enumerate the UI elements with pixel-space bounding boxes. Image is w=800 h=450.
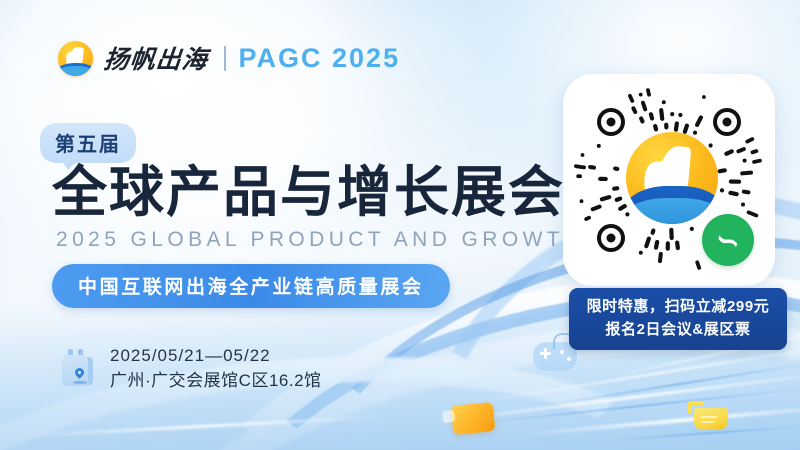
controller-button <box>567 357 571 361</box>
venue-info: 2025/05/21—05/22 广州·广交会展馆C区16.2馆 <box>58 344 322 393</box>
light-streak <box>20 416 380 438</box>
promo-box[interactable]: 限时特惠，扫码立减299元 报名2日会议&展区票 <box>569 288 787 350</box>
brand-divider <box>224 46 226 71</box>
page-title: 全球产品与增长展会 <box>52 164 565 222</box>
tagline-label: 中国互联网出海全产业链高质量展会 <box>78 277 424 298</box>
light-streak <box>471 387 800 425</box>
promo-line-2: 报名2日会议&展区票 <box>577 318 779 341</box>
brand-name-cn: 扬帆出海 <box>102 40 210 76</box>
logo-wave-light <box>626 198 718 224</box>
light-streak <box>542 361 800 407</box>
cart-line <box>701 416 717 418</box>
promo-line-1: 限时特惠，扫码立减299元 <box>577 295 779 318</box>
event-address: 广州·广交会展馆C区16.2馆 <box>110 369 322 394</box>
logo-wave-light <box>58 66 93 76</box>
venue-building-main <box>62 355 88 386</box>
shopping-cart-icon <box>688 398 728 430</box>
map-pin-icon <box>73 366 86 379</box>
cart-line <box>701 421 714 423</box>
cart-body <box>694 408 728 430</box>
venue-text: 2025/05/21—05/22 广州·广交会展馆C区16.2馆 <box>110 344 322 393</box>
brand-header: 扬帆出海 PAGC 2025 <box>58 40 400 76</box>
controller-button <box>560 350 564 354</box>
map-pin-base <box>73 381 87 384</box>
promo-banner: 扬帆出海 PAGC 2025 第五届 全球产品与增长展会 2025 GLOBAL… <box>0 0 800 450</box>
edition-badge-label: 第五届 <box>55 134 121 156</box>
brand-name-en: PAGC 2025 <box>239 43 401 74</box>
sailboat-sun-logo-icon <box>626 132 718 224</box>
wechat-mini-program-qr-code[interactable]: ∽ <box>563 74 775 286</box>
tagline-pill: 中国互联网出海全产业链高质量展会 <box>52 264 450 308</box>
edition-badge: 第五届 <box>40 123 136 163</box>
sailboat-sun-logo-icon <box>58 41 93 76</box>
wechat-mini-program-icon: ∽ <box>702 214 754 266</box>
venue-location-pin-icon <box>58 348 100 390</box>
mini-program-glyph: ∽ <box>711 221 745 259</box>
event-date: 2025/05/21—05/22 <box>110 344 322 369</box>
gold-payment-card-icon <box>451 402 496 435</box>
light-streak <box>472 342 800 403</box>
light-streak <box>520 404 800 437</box>
